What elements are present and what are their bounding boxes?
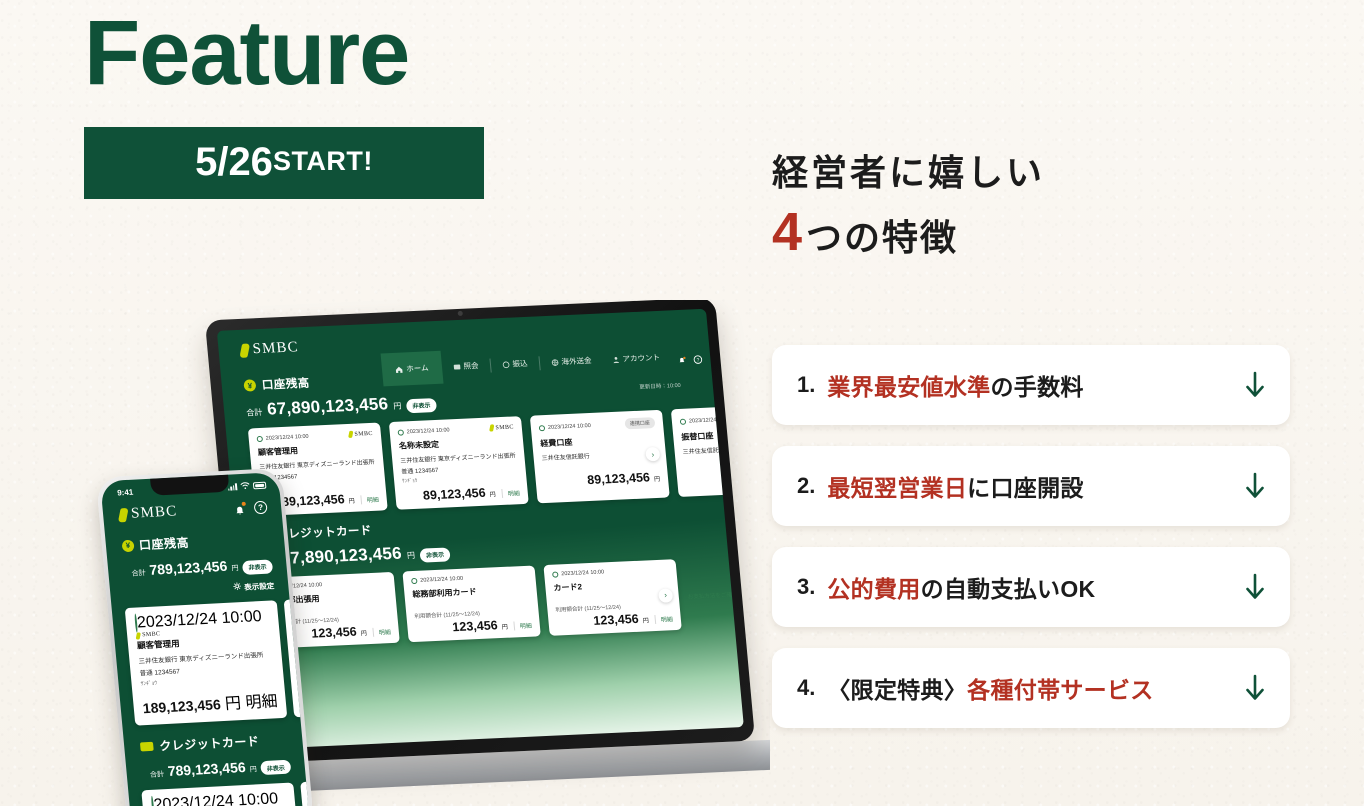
bell-icon[interactable] xyxy=(234,502,246,515)
card-header: 2023/12/24 10:00 xyxy=(552,566,669,577)
account-amount: 89,123,456 xyxy=(422,486,486,503)
nav-item-home[interactable]: ホーム xyxy=(381,351,443,387)
nav-divider xyxy=(538,356,540,370)
credit-footnote: お支払方法をご確認ください xyxy=(687,589,743,600)
arrow-down-icon[interactable] xyxy=(1242,572,1268,602)
subheading-line-1: 経営者に嬉しい xyxy=(772,150,1292,195)
clock-icon xyxy=(256,435,263,441)
credit-amount: 123,456 xyxy=(311,625,357,641)
card-header: 2023/12/24 10:00 連携口座 xyxy=(679,411,743,427)
amount-row: 89,123,456 円 明細 xyxy=(403,484,520,503)
notification-dot xyxy=(242,501,246,505)
feature-count: 4 xyxy=(772,205,804,259)
inquiry-icon xyxy=(452,362,461,370)
card-header: 2023/12/24 10:00 xyxy=(151,790,288,806)
transfer-icon xyxy=(501,360,510,368)
globe-icon xyxy=(550,358,559,366)
feature-list: 1. 業界最安値水準の手数料 2. 最短翌営業日に口座開設 3. 公的費用の自動… xyxy=(772,345,1290,728)
currency-unit: 円 xyxy=(642,615,649,624)
phone-screen: 9:41 SMBC xyxy=(100,472,310,806)
smbc-mini-logo: SMBC xyxy=(348,430,373,438)
hide-balance-toggle[interactable]: 非表示 xyxy=(242,559,273,575)
leaf-icon xyxy=(489,424,494,431)
feature-label: 最短翌営業日に口座開設 xyxy=(827,469,1234,503)
arrow-down-icon[interactable] xyxy=(1242,673,1268,703)
leaf-icon xyxy=(239,343,250,357)
detail-link[interactable]: 明細 xyxy=(513,621,532,631)
phone-account-card[interactable]: 2023/12/24 10:00 SMBC 顧客管理用 三井住友銀行 東京ディズ… xyxy=(125,600,288,725)
feature-rest: に口座開設 xyxy=(967,475,1084,501)
feature-highlight: 業界最安値水準 xyxy=(827,374,990,400)
credit-card-item[interactable]: 2023/12/24 10:00 総務部利用カード 利用額合計 (11/25〜1… xyxy=(402,566,540,643)
detail-link[interactable]: 明細 xyxy=(654,614,673,624)
amount-row: 89,123,456 円 xyxy=(543,470,660,489)
page-title: Feature xyxy=(84,6,514,102)
account-amount: 189,123,456 xyxy=(142,696,221,716)
nav-label: 海外送金 xyxy=(561,355,592,367)
feature-rest: の手数料 xyxy=(990,374,1083,400)
feature-index: 4. xyxy=(797,675,815,701)
account-nickname: 顧客管理用 xyxy=(258,442,375,458)
detail-link[interactable]: 明細 xyxy=(360,495,379,505)
currency-unit: 円 xyxy=(393,401,402,412)
feature-label: 業界最安値水準の手数料 xyxy=(827,368,1234,402)
currency-unit: 円 xyxy=(249,764,257,774)
account-bank: 三井住友信託銀行 xyxy=(682,442,744,456)
help-icon[interactable]: ? xyxy=(693,351,703,360)
nav-item-overseas[interactable]: 海外送金 xyxy=(540,347,601,377)
webcam-icon xyxy=(458,311,463,316)
device-mockup-group: SMBC ホーム 照会 振 xyxy=(0,300,770,806)
phone-body: 9:41 SMBC xyxy=(96,468,315,806)
card-timestamp: 2023/12/24 10:00 xyxy=(151,790,279,806)
credit-footnote-wrap: お支払方法をご確認ください xyxy=(684,555,743,629)
total-amount: 789,123,456 xyxy=(167,758,246,778)
help-icon[interactable]: ? xyxy=(254,501,268,515)
smbc-wordmark: SMBC xyxy=(495,424,514,431)
smbc-wordmark: SMBC xyxy=(130,503,178,522)
account-card[interactable]: 2023/12/24 10:00 連携口座 振替口座 三井住友信託銀行 89,1 xyxy=(671,403,744,497)
detail-link[interactable]: 明細 xyxy=(372,627,391,637)
timestamp-text: 2023/12/24 10:00 xyxy=(689,416,732,424)
total-label: 合計 xyxy=(246,407,263,419)
credit-card-icon xyxy=(140,741,154,751)
credit-card-item[interactable]: 2023/12/24 10:00 カード2 利用額合計 (11/25〜12/24… xyxy=(543,559,681,636)
phone-account-card-list: 2023/12/24 10:00 SMBC 顧客管理用 三井住友銀行 東京ディズ… xyxy=(111,590,300,726)
start-date: 5/26 xyxy=(195,140,273,185)
card-header: 2023/12/24 10:00 SMBC xyxy=(256,430,373,442)
clock-icon xyxy=(411,578,418,584)
timestamp-text: 2023/12/24 10:00 xyxy=(548,422,591,430)
hide-balance-toggle[interactable]: 非表示 xyxy=(419,547,450,562)
app-topbar: SMBC ホーム 照会 振 xyxy=(217,309,710,377)
total-label: 合計 xyxy=(131,568,146,579)
card-timestamp: 2023/12/24 10:00 xyxy=(552,569,604,577)
nav-item-transfer[interactable]: 振込 xyxy=(491,349,537,378)
feature-lead: 〈限定特典〉 xyxy=(827,677,967,703)
nav-label: ホーム xyxy=(406,362,429,374)
arrow-down-icon[interactable] xyxy=(1242,370,1268,400)
timestamp-text: 2023/12/24 10:00 xyxy=(153,790,279,806)
card-timestamp: 2023/12/24 10:00 xyxy=(397,427,449,435)
yen-coin-icon: ¥ xyxy=(121,539,134,552)
card-timestamp: 2023/12/24 10:00 xyxy=(256,433,308,441)
yen-coin-icon: ¥ xyxy=(243,379,256,391)
account-nickname: 振替口座 xyxy=(681,427,744,443)
phone-header-icons: ? xyxy=(234,501,268,516)
hide-balance-toggle[interactable]: 非表示 xyxy=(260,760,291,776)
leaf-icon xyxy=(118,507,129,522)
total-label: 合計 xyxy=(150,769,165,780)
nav-label: 照会 xyxy=(463,360,479,372)
hero-heading-block: Feature 5/26 START! xyxy=(84,6,514,199)
feature-item-3[interactable]: 3. 公的費用の自動支払いOK xyxy=(772,547,1290,627)
detail-link[interactable]: 明細 xyxy=(501,488,520,498)
timestamp-text: 2023/12/24 10:00 xyxy=(420,576,463,584)
card-header: 2023/12/24 10:00 xyxy=(411,573,528,584)
currency-unit: 円 xyxy=(360,628,367,637)
feature-highlight: 最短翌営業日 xyxy=(827,475,967,501)
total-amount: 789,123,456 xyxy=(149,558,228,578)
clock-icon xyxy=(680,418,687,424)
credit-amount: 123,456 xyxy=(593,612,639,628)
feature-rest: の自動支払いOK xyxy=(921,576,1096,602)
start-word: START! xyxy=(273,146,373,179)
gear-icon xyxy=(233,582,242,592)
credit-card-nickname: 総務部利用カード xyxy=(412,584,529,600)
nav-label: アカウント xyxy=(622,352,660,365)
feature-index: 2. xyxy=(797,473,815,499)
topbar-icons: ? xyxy=(671,351,703,361)
card-timestamp: 2023/12/24 10:00 xyxy=(411,576,463,584)
credit-section-title: クレジットカード xyxy=(276,522,373,542)
account-amount: 89,123,456 xyxy=(587,470,651,487)
phone-balance-title: 口座残高 xyxy=(138,534,190,554)
smbc-logo[interactable]: SMBC xyxy=(240,339,300,359)
feature-label: 公的費用の自動支払いOK xyxy=(827,570,1234,604)
clock-icon xyxy=(539,425,546,431)
arrow-down-icon[interactable] xyxy=(1242,471,1268,501)
phone-credit-card-item[interactable]: 2023/12/24 10:00 企画部出張用 xyxy=(141,782,297,806)
currency-unit: 円 xyxy=(348,496,355,505)
nav-item-account[interactable]: アカウント xyxy=(601,343,670,373)
timestamp-text: 2023/12/24 10:00 xyxy=(406,427,449,435)
card-header: 2023/12/24 10:00 連携口座 xyxy=(538,417,655,433)
card-timestamp: 2023/12/24 10:00 xyxy=(680,416,732,424)
leaf-icon xyxy=(348,431,353,438)
subheading-line-2-rest: つの特徴 xyxy=(806,209,958,261)
smbc-wordmark: SMBC xyxy=(354,430,373,437)
home-icon xyxy=(395,365,404,373)
subheading-line-2: 4 つの特徴 xyxy=(772,205,1292,261)
bell-icon[interactable] xyxy=(677,352,687,361)
detail-link[interactable]: 明細 xyxy=(245,693,279,712)
start-date-badge: 5/26 START! xyxy=(84,127,484,199)
currency-unit: 円 xyxy=(654,474,661,483)
card-header: 2023/12/24 10:00 SMBC xyxy=(397,423,514,435)
phone-credit-card-item[interactable] xyxy=(300,780,310,806)
smbc-mini-logo: SMBC xyxy=(489,423,514,431)
right-heading-block: 経営者に嬉しい 4 つの特徴 xyxy=(772,150,1292,261)
smbc-wordmark: SMBC xyxy=(142,631,161,638)
account-nickname: 名称未設定 xyxy=(399,435,516,451)
amount-row: 123,456 円 明細 xyxy=(415,617,532,636)
nav-label: 振込 xyxy=(512,358,528,370)
amount-row: 123,456 円 明細 xyxy=(556,610,673,629)
person-icon xyxy=(611,355,620,363)
credit-amount: 123,456 xyxy=(452,618,498,634)
amount-row: 189,123,456 円 明細 xyxy=(142,687,279,718)
feature-item-2[interactable]: 2. 最短翌営業日に口座開設 xyxy=(772,446,1290,526)
feature-label: 〈限定特典〉各種付帯サービス xyxy=(827,671,1234,705)
credit-card-nickname: カード2 xyxy=(553,577,670,593)
hide-balance-toggle[interactable]: 非表示 xyxy=(406,398,437,413)
battery-icon xyxy=(253,482,267,489)
currency-unit: 円 xyxy=(224,695,242,713)
timestamp-text: 2023/12/24 10:00 xyxy=(265,433,308,441)
feature-index: 3. xyxy=(797,574,815,600)
last-updated-note: 更新日時：10:00 xyxy=(639,381,681,391)
smbc-wordmark: SMBC xyxy=(252,339,300,358)
feature-highlight: 公的費用 xyxy=(827,576,920,602)
wifi-icon xyxy=(240,481,251,491)
amount-row: 89,1 xyxy=(684,463,744,482)
status-time: 9:41 xyxy=(117,488,134,498)
svg-text:?: ? xyxy=(696,358,700,364)
signal-icon xyxy=(227,483,237,490)
nav-item-inquiry[interactable]: 照会 xyxy=(442,352,488,381)
currency-unit: 円 xyxy=(406,550,415,561)
feature-index: 1. xyxy=(797,372,815,398)
feature-item-1[interactable]: 1. 業界最安値水準の手数料 xyxy=(772,345,1290,425)
clock-icon xyxy=(552,571,559,577)
phone-mockup: 9:41 SMBC xyxy=(96,468,315,806)
display-settings-label: 表示設定 xyxy=(244,580,275,593)
status-indicators xyxy=(227,480,266,492)
currency-unit: 円 xyxy=(501,622,508,631)
feature-item-4[interactable]: 4. 〈限定特典〉各種付帯サービス xyxy=(772,648,1290,728)
clock-icon xyxy=(397,429,404,435)
card-timestamp: 2023/12/24 10:00 xyxy=(539,422,591,430)
timestamp-text: 2023/12/24 10:00 xyxy=(561,569,604,577)
smbc-logo[interactable]: SMBC xyxy=(118,503,178,523)
balance-section-title: 口座残高 xyxy=(261,375,310,393)
currency-unit: 円 xyxy=(231,563,239,573)
currency-unit: 円 xyxy=(489,489,496,498)
feature-highlight: 各種付帯サービス xyxy=(967,677,1153,703)
nav-divider xyxy=(489,358,491,372)
linked-account-badge: 連携口座 xyxy=(624,417,655,429)
account-nickname: 経費口座 xyxy=(540,433,657,449)
account-card[interactable]: 2023/12/24 10:00 連携口座 経費口座 三井住友信託銀行 89,1… xyxy=(530,410,670,504)
account-amount: 89,123,456 xyxy=(281,492,345,509)
account-card[interactable]: 2023/12/24 10:00 SMBC 名称未設定 三井住友銀行 東京ディズ… xyxy=(389,416,529,510)
